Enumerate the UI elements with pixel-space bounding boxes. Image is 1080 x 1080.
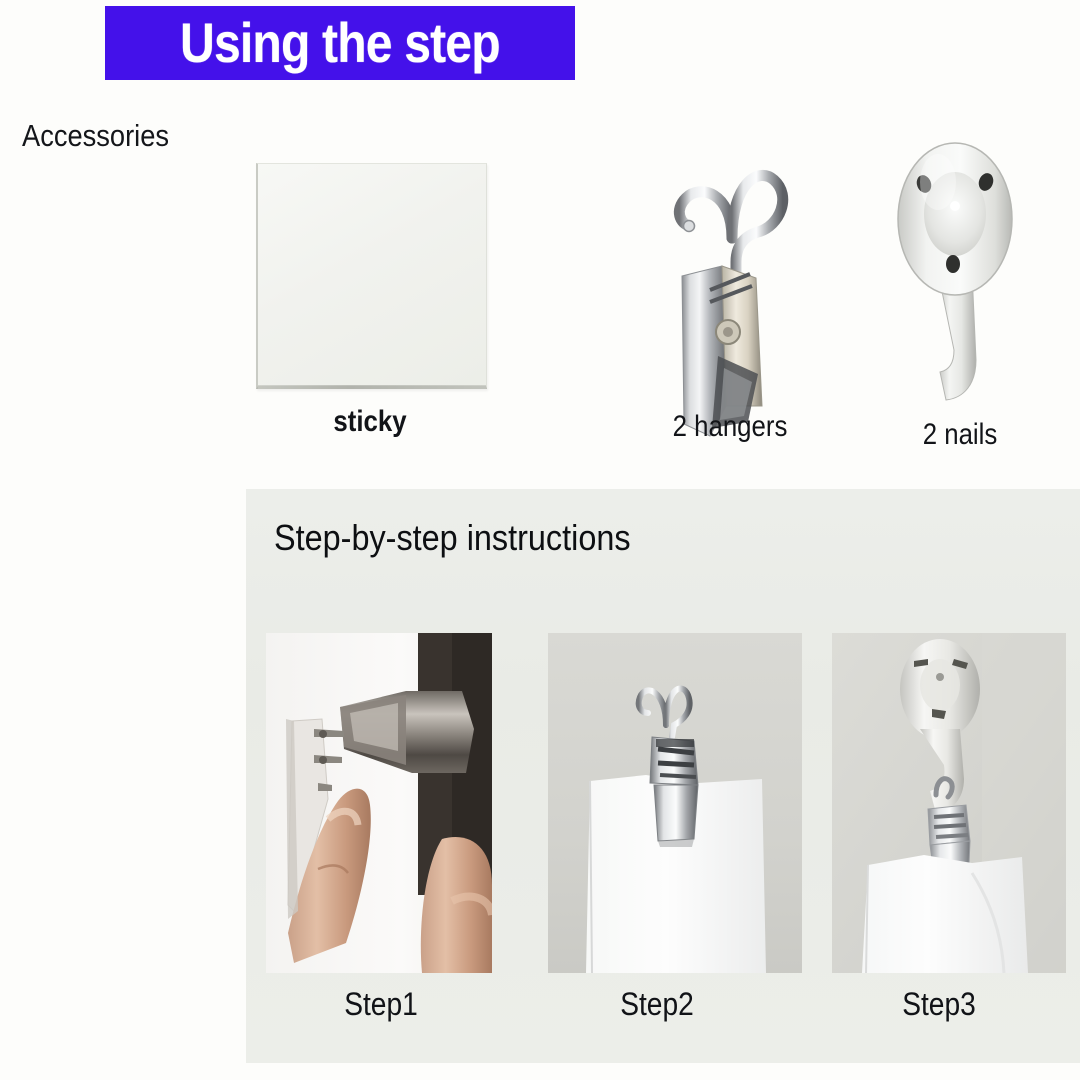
step-label-1: Step1 [297,986,464,1023]
hook-clip-icon [640,106,820,446]
adhesive-pad-icon [256,163,487,389]
step-label-3: Step3 [855,986,1022,1023]
page-title: Using the step [180,15,500,71]
title-banner: Using the step [105,6,575,80]
instructions-panel: Step-by-step instructions [246,489,1080,1063]
accessories-row: sticky [0,100,1080,460]
step-label-2: Step2 [573,986,740,1023]
step-photo-3 [832,633,1066,973]
instructions-heading: Step-by-step instructions [274,517,631,559]
accessory-label-hangers: 2 hangers [635,410,824,444]
step-photo-2 [548,633,802,973]
step-photo-1 [266,633,492,973]
step-photos [266,633,1066,973]
product-instruction-page: Using the step Accessories sticky [0,0,1080,1080]
wall-hook-icon [880,122,1030,442]
accessory-label-sticky: sticky [272,405,468,439]
accessory-label-nails: 2 nails [883,418,1038,452]
